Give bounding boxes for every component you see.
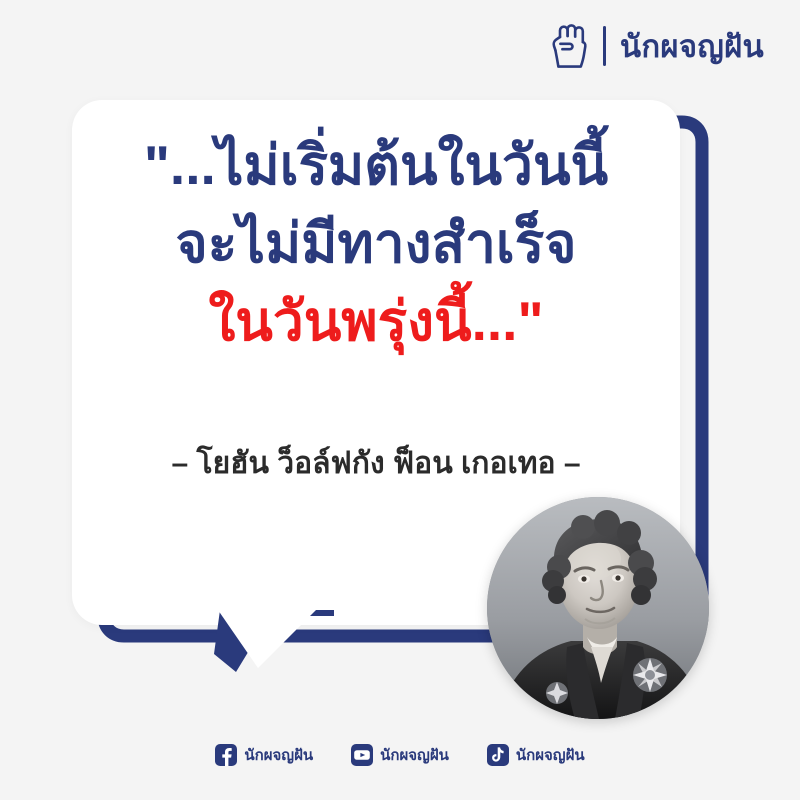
brand-name: นักผจญฝัน: [620, 31, 764, 62]
quote-text: "...ไม่เริ่มต้นในวันนี้ จะไม่มีทางสำเร็จ…: [72, 126, 680, 360]
poster-canvas: นักผจญฝัน: [0, 0, 800, 800]
youtube-icon: [351, 744, 373, 766]
social-label-facebook: นักผจญฝัน: [244, 748, 313, 763]
quote-line-3: ในวันพรุ่งนี้...": [72, 282, 680, 360]
raised-fist-icon: [547, 20, 589, 72]
quote-line-1: "...ไม่เริ่มต้นในวันนี้: [72, 126, 680, 204]
tiktok-icon: [487, 744, 509, 766]
avatar: [487, 497, 709, 719]
facebook-icon: [215, 744, 237, 766]
social-link-tiktok[interactable]: นักผจญฝัน: [487, 744, 585, 766]
quote-attribution: – โยฮัน ว็อล์ฟกัง ฟ็อน เกอเทอ –: [72, 440, 680, 487]
brand-divider: [603, 26, 606, 66]
social-links: นักผจญฝัน นักผจญฝัน นักผจญฝัน: [0, 744, 800, 766]
social-label-youtube: นักผจญฝัน: [380, 748, 449, 763]
bubble-tail: [212, 610, 342, 700]
brand-header: นักผจญฝัน: [547, 18, 764, 74]
quote-line-2: จะไม่มีทางสำเร็จ: [72, 204, 680, 282]
social-link-facebook[interactable]: นักผจญฝัน: [215, 744, 313, 766]
social-link-youtube[interactable]: นักผจญฝัน: [351, 744, 449, 766]
social-label-tiktok: นักผจญฝัน: [516, 748, 585, 763]
